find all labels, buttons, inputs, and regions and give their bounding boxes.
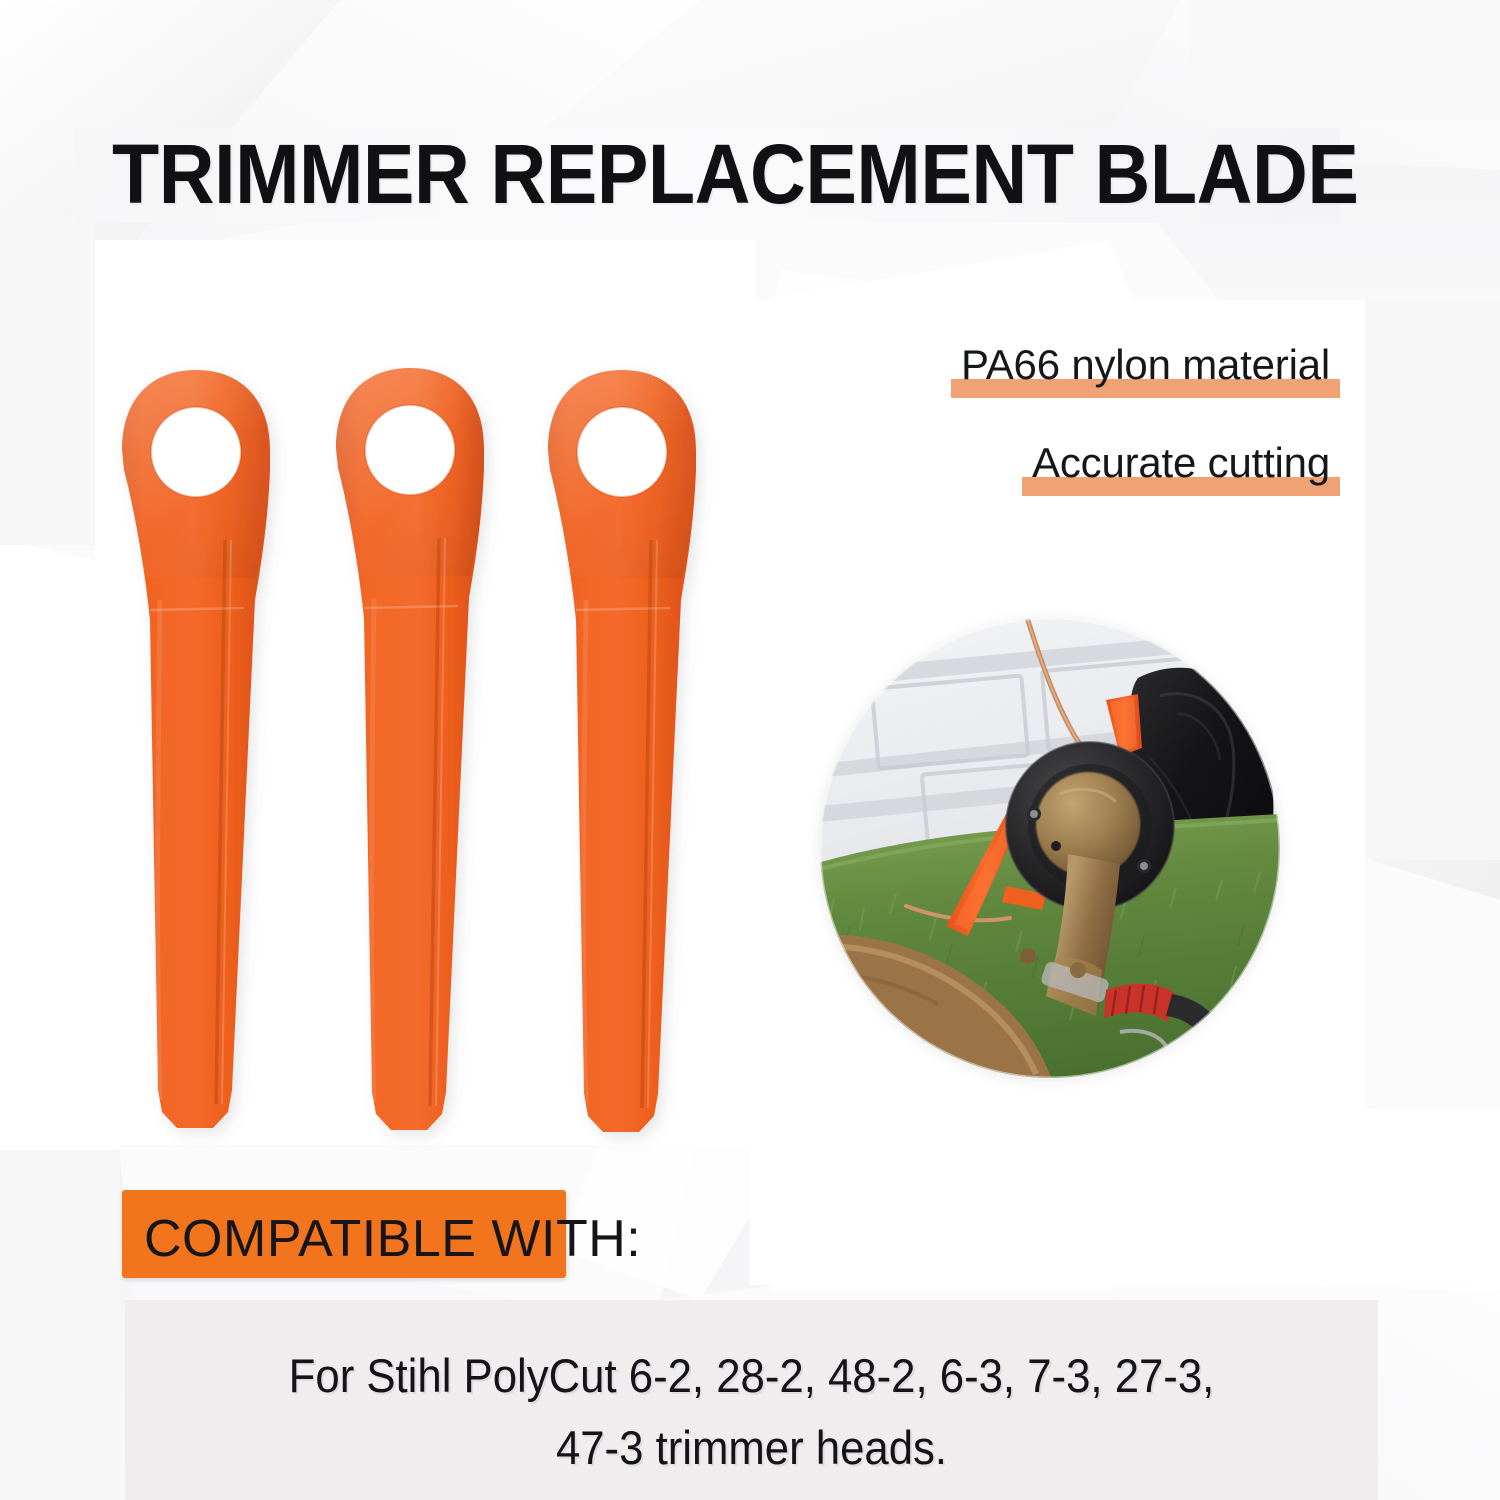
- feature-label-cutting: Accurate cutting: [1032, 439, 1330, 486]
- blade-3: [548, 370, 696, 1132]
- application-photo: [820, 618, 1280, 1078]
- blade-2: [336, 368, 484, 1130]
- feature-row-2: Accurate cutting: [820, 438, 1340, 536]
- product-blades-group: [0, 0, 760, 1180]
- panel-bottom-white: [750, 1110, 1500, 1285]
- product-infographic: TRIMMER REPLACEMENT BLADE: [0, 0, 1500, 1500]
- compatible-with-badge: COMPATIBLE WITH:: [122, 1190, 566, 1278]
- feature-item-cutting: Accurate cutting: [1022, 438, 1340, 498]
- compatibility-text: For Stihl PolyCut 6-2, 28-2, 48-2, 6-3, …: [169, 1340, 1334, 1484]
- feature-label-material: PA66 nylon material: [961, 341, 1330, 388]
- compatible-with-label: COMPATIBLE WITH:: [144, 1196, 641, 1282]
- panel-lower-left: [0, 1150, 120, 1500]
- panel-right-edge: [1365, 300, 1500, 860]
- feature-list: PA66 nylon material Accurate cutting: [820, 340, 1340, 536]
- feature-item-material: PA66 nylon material: [951, 340, 1340, 400]
- blade-1: [122, 370, 270, 1128]
- panel-top-right: [1190, 0, 1500, 120]
- compatibility-line-1: For Stihl PolyCut 6-2, 28-2, 48-2, 6-3, …: [169, 1340, 1334, 1412]
- feature-row-1: PA66 nylon material: [820, 340, 1340, 438]
- compatibility-line-2: 47-3 trimmer heads.: [169, 1412, 1334, 1484]
